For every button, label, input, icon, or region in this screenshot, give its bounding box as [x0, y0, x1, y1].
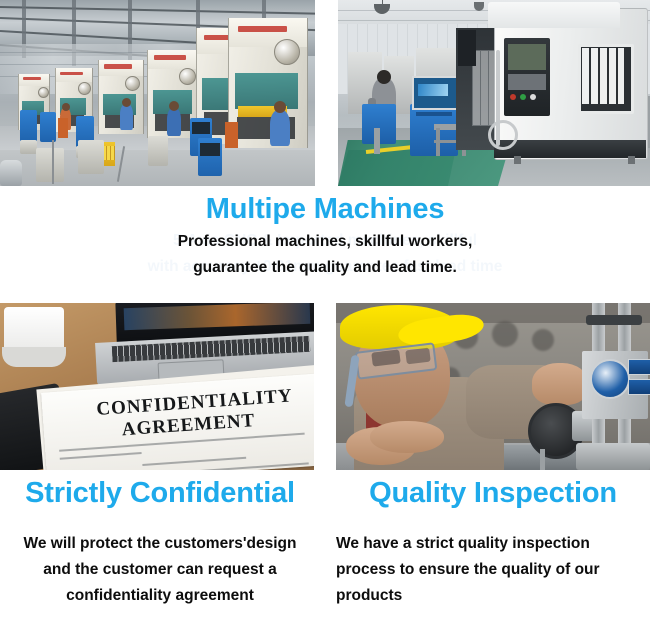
body-strictly-confidential-line-3: confidentiality agreement [0, 583, 320, 610]
body-multiple-machines-line-2: guarantee the quality and lead time. [0, 255, 650, 282]
body-quality-inspection-line-1: We have a strict quality inspection [336, 531, 646, 558]
body-multiple-machines-line-1: Professional machines, skillful workers, [0, 229, 650, 256]
body-strictly-confidential-line-2: and the customer can request a [0, 557, 320, 584]
quality-inspector-image [336, 303, 650, 470]
body-strictly-confidential-line-1: We will protect the customers'design [0, 531, 320, 558]
product-feature-banner: CONFIDENTIALITY AGREEMENT [0, 0, 650, 619]
heading-quality-inspection: Quality Inspection [336, 478, 650, 508]
cnc-machining-center-image [338, 0, 650, 186]
body-quality-inspection-line-2: process to ensure the quality of our [336, 557, 646, 584]
body-quality-inspection-line-3: products [336, 583, 646, 610]
factory-punch-press-line-image [0, 0, 315, 186]
confidentiality-agreement-image: CONFIDENTIALITY AGREEMENT [0, 303, 314, 470]
heading-multiple-machines: Multipe Machines [0, 194, 650, 224]
heading-strictly-confidential: Strictly Confidential [0, 478, 320, 508]
